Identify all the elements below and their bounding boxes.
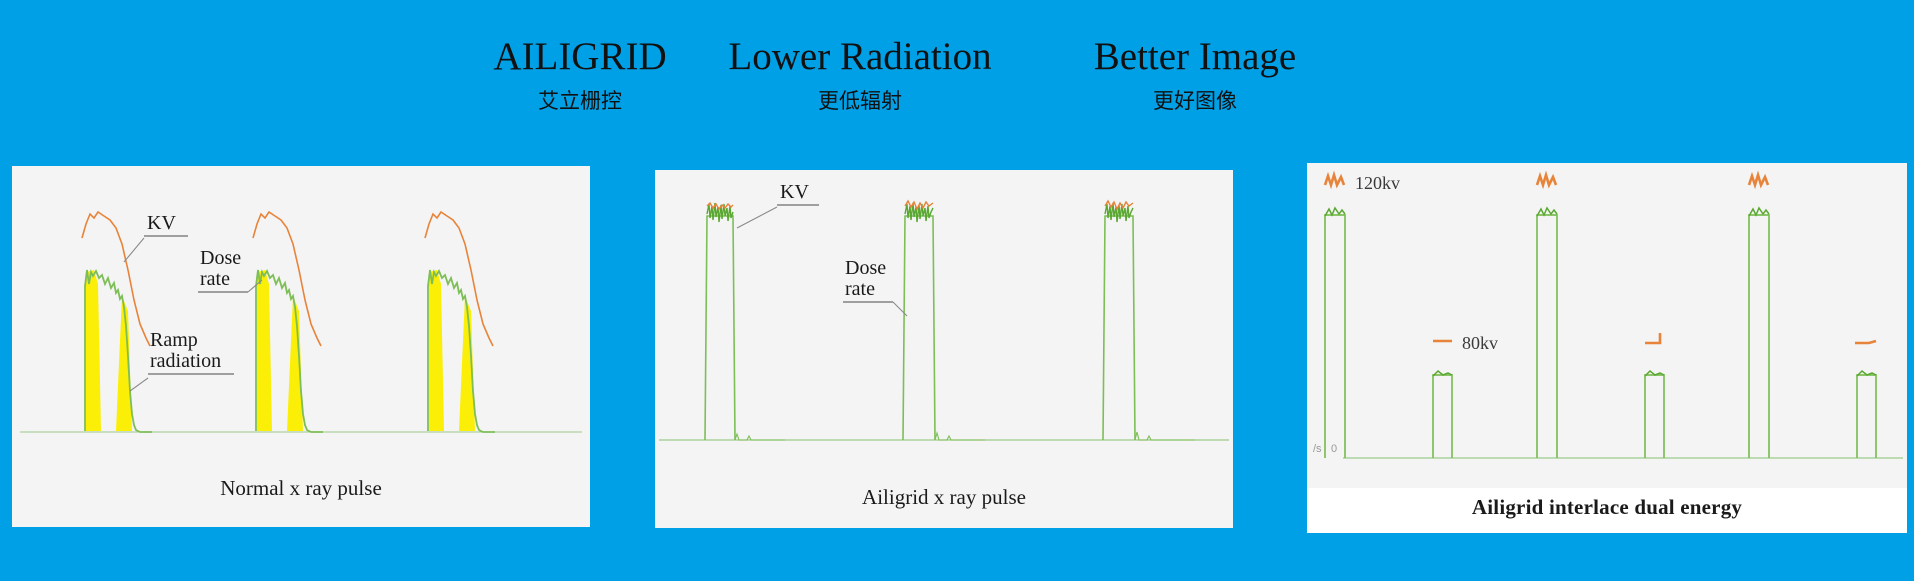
annotation-ramp-label-line1: Ramp: [150, 329, 198, 351]
annotation-kv-leader: [124, 238, 144, 262]
annotation-kv: KV: [737, 181, 819, 228]
annotation-dose-rate-label-line2: rate: [845, 278, 875, 300]
panel-caption-interlace: Ailigrid interlace dual energy: [1307, 495, 1907, 520]
chart-interlace-dual-energy: /s 0: [1307, 163, 1907, 488]
header-title-cn-1: 更低辐射: [680, 86, 1040, 116]
panel-caption-normal: Normal x ray pulse: [12, 476, 590, 501]
dose-pulse-2: [903, 201, 985, 440]
header-column-better-image: Better Image 更好图像: [1025, 34, 1365, 116]
pulse-80kv-3: [1857, 371, 1876, 458]
ramp-radiation-area-2: [257, 270, 303, 431]
ramp-radiation-area-1: [86, 270, 132, 431]
panel-caption-ailigrid: Ailigrid x ray pulse: [655, 485, 1233, 510]
kv-marker-80kv-2: [1645, 333, 1660, 343]
legend-label-120kv: 120kv: [1355, 173, 1400, 193]
chart-panel-interlace-dual-energy: /s 0: [1307, 163, 1907, 533]
dose-pulse-1: [705, 203, 785, 440]
pulse-80kv-1: [1433, 371, 1452, 458]
legend-label-80kv: 80kv: [1462, 333, 1498, 353]
header-title-en-1: Lower Radiation: [680, 34, 1040, 80]
pulse-80kv-2: [1645, 371, 1664, 458]
annotation-kv: KV: [124, 212, 188, 262]
annotation-dose-rate-label-line1: Dose: [200, 247, 241, 269]
pulse-120kv-2: [1537, 208, 1557, 458]
kv-marker-120kv-2: [1537, 175, 1556, 185]
annotation-ramp-label-line2: radiation: [150, 350, 221, 372]
pulse-120kv-3: [1749, 208, 1769, 458]
annotation-kv-label: KV: [147, 212, 176, 234]
dose-pulse-3: [1103, 201, 1195, 440]
chart-ailigrid-pulse: KV Dose rate: [655, 170, 1233, 475]
page-header: AILIGRID 艾立栅控 Lower Radiation 更低辐射 Bette…: [0, 0, 1914, 150]
annotation-dose-rate-label-line2: rate: [200, 268, 230, 290]
annotation-dose-rate: Dose rate: [198, 247, 262, 292]
axis-zero-label: 0: [1331, 443, 1337, 455]
header-title-en-2: Better Image: [1025, 34, 1365, 80]
annotation-dose-rate-label-line1: Dose: [845, 257, 886, 279]
chart-panel-normal-pulse: KV Dose rate Ramp radiation Normal x ray…: [12, 166, 590, 527]
ramp-radiation-area-3: [429, 270, 475, 431]
annotation-ramp-leader: [130, 378, 148, 391]
axis-unit-label: /s: [1313, 443, 1322, 455]
kv-marker-80kv-3: [1855, 341, 1876, 343]
annotation-kv-label: KV: [780, 181, 809, 203]
annotation-dose-rate: Dose rate: [843, 257, 907, 316]
header-title-cn-2: 更好图像: [1025, 86, 1365, 116]
header-column-lower-radiation: Lower Radiation 更低辐射: [680, 34, 1040, 116]
chart-normal-pulse: KV Dose rate Ramp radiation: [12, 166, 590, 466]
pulse-120kv-1: [1325, 208, 1345, 458]
chart-panel-ailigrid-pulse: KV Dose rate Ailigrid x ray pulse: [655, 170, 1233, 528]
kv-marker-120kv-3: [1749, 175, 1768, 185]
kv-marker-120kv-1: [1325, 175, 1344, 185]
annotation-kv-leader: [737, 207, 777, 228]
